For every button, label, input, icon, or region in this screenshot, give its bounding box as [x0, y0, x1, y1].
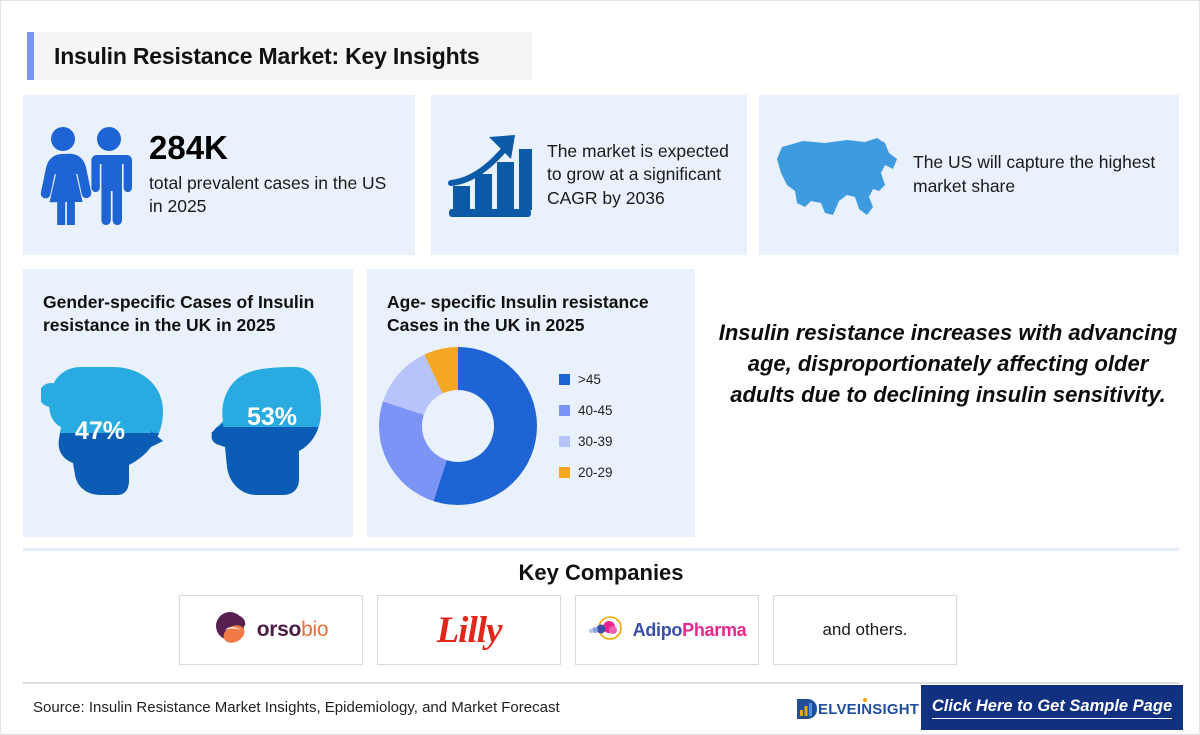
male-head-chart: 53% [195, 355, 335, 508]
and-others-label: and others. [822, 620, 907, 640]
cagr-caption: The market is expected to grow at a sign… [547, 140, 733, 211]
insight-callout: Insulin resistance increases with advanc… [717, 317, 1179, 411]
legend-swatch-icon [559, 467, 570, 478]
delveinsight-wordmark: ELVEINSIGHT [818, 701, 919, 718]
legend-item: 20-29 [559, 465, 613, 480]
legend-swatch-icon [559, 436, 570, 447]
source-text: Source: Insulin Resistance Market Insigh… [33, 699, 560, 716]
adipopharma-name-part-a: Adipo [633, 620, 683, 640]
donut-legend: >4540-4530-3920-29 [559, 372, 613, 480]
age-card-heading: Age- specific Insulin resistance Cases i… [367, 269, 695, 337]
legend-label: 30-39 [578, 434, 613, 449]
legend-item: 30-39 [559, 434, 613, 449]
legend-label: 40-45 [578, 403, 613, 418]
orsobio-mark-icon [214, 610, 250, 651]
gender-cases-card: Gender-specific Cases of Insulin resista… [23, 269, 353, 537]
cta-label: Click Here to Get Sample Page [932, 697, 1172, 719]
page-title: Insulin Resistance Market: Key Insights [27, 32, 532, 80]
legend-label: 20-29 [578, 465, 613, 480]
female-head-chart: 47% [41, 355, 181, 508]
us-share-caption: The US will capture the highest market s… [913, 151, 1165, 198]
title-accent-bar [27, 32, 34, 80]
us-map-icon [773, 129, 899, 221]
company-and-others: and others. [773, 595, 957, 665]
get-sample-page-button[interactable]: Click Here to Get Sample Page [921, 685, 1183, 730]
legend-swatch-icon [559, 374, 570, 385]
orsobio-name-part-a: orso [257, 618, 301, 641]
delveinsight-logo: ELVEINSIGHT [796, 695, 919, 723]
section-divider [23, 548, 1179, 551]
male-percentage: 53% [247, 403, 297, 432]
legend-item: >45 [559, 372, 613, 387]
male-female-people-icon [37, 125, 135, 225]
adipopharma-name-part-b: Pharma [682, 620, 746, 640]
gender-card-heading: Gender-specific Cases of Insulin resista… [23, 269, 353, 337]
lilly-wordmark: Lilly [437, 609, 502, 652]
legend-item: 40-45 [559, 403, 613, 418]
orsobio-name-part-b: bio [301, 618, 328, 641]
prevalence-caption: total prevalent cases in the US in 2025 [149, 172, 401, 219]
footer-divider [23, 682, 1179, 684]
age-cases-card: Age- specific Insulin resistance Cases i… [367, 269, 695, 537]
donut-ring [379, 347, 537, 505]
stat-card-us-share: The US will capture the highest market s… [759, 95, 1179, 255]
infographic-page: Insulin Resistance Market: Key Insights [0, 0, 1200, 735]
delveinsight-d-icon [796, 697, 818, 721]
company-logo-adipopharma[interactable]: AdipoPharma [575, 595, 759, 665]
age-donut-chart: >4540-4530-3920-29 [367, 337, 695, 505]
female-percentage: 47% [75, 417, 125, 446]
stat-card-prevalence: 284K total prevalent cases in the US in … [23, 95, 415, 255]
company-logo-orsobio[interactable]: orsobio [179, 595, 363, 665]
prevalence-value: 284K [149, 131, 401, 166]
page-title-text: Insulin Resistance Market: Key Insights [34, 43, 480, 70]
key-companies-row: orsobio Lilly [179, 595, 957, 665]
adipopharma-mark-icon [588, 614, 628, 647]
growth-bar-chart-arrow-icon [445, 129, 533, 221]
stat-card-cagr: The market is expected to grow at a sign… [431, 95, 747, 255]
legend-label: >45 [578, 372, 601, 387]
key-companies-title: Key Companies [1, 560, 1200, 586]
company-logo-lilly[interactable]: Lilly [377, 595, 561, 665]
legend-swatch-icon [559, 405, 570, 416]
delveinsight-dot-icon [863, 698, 867, 702]
gender-heads-row: 47% 53% [23, 355, 353, 508]
